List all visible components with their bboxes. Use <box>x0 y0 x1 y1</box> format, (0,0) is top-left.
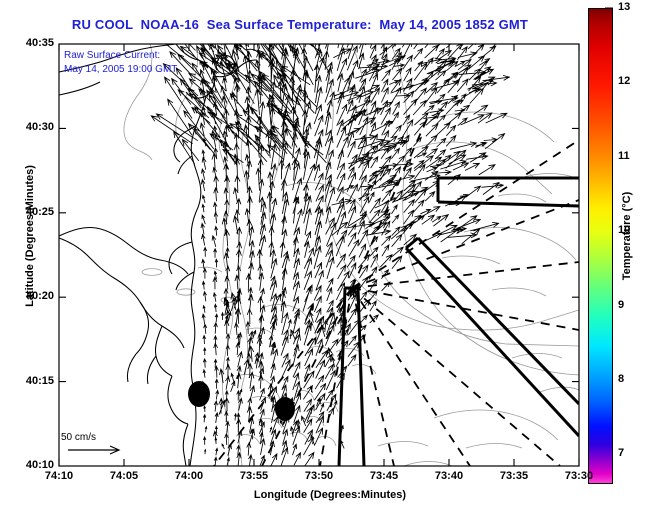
sst-map-figure: RU COOL NOAA-16 Sea Surface Temperature:… <box>0 0 651 515</box>
x-tick-label: 73:50 <box>295 470 343 482</box>
x-axis-label: Longitude (Degrees:Minutes) <box>170 489 490 501</box>
colorbar-tick-label: 9 <box>618 299 642 311</box>
map-plot-area <box>0 0 651 515</box>
colorbar <box>588 8 613 484</box>
x-tick-label: 73:40 <box>425 470 473 482</box>
x-tick-label: 73:35 <box>490 470 538 482</box>
radar-station-marker-1 <box>188 381 210 407</box>
colorbar-gradient <box>589 9 612 483</box>
x-tick-label: 73:30 <box>555 470 603 482</box>
current-annotation-line2: May 14, 2005 19:00 GMT <box>64 64 177 75</box>
x-tick-label: 74:10 <box>35 470 83 482</box>
radar-station-marker-2 <box>275 397 295 421</box>
colorbar-tick-label: 11 <box>618 150 642 162</box>
y-tick-label: 40:15 <box>8 375 54 387</box>
scale-legend-label: 50 cm/s <box>61 432 96 443</box>
y-tick-label: 40:20 <box>8 290 54 302</box>
x-tick-label: 73:45 <box>360 470 408 482</box>
y-tick-label: 40:10 <box>8 459 54 471</box>
colorbar-tick-label: 10 <box>618 224 642 236</box>
y-tick-label: 40:25 <box>8 206 54 218</box>
x-tick-label: 74:00 <box>165 470 213 482</box>
x-tick-label: 73:55 <box>230 470 278 482</box>
x-tick-label: 74:05 <box>100 470 148 482</box>
colorbar-tick-label: 13 <box>618 1 642 13</box>
y-tick-label: 40:30 <box>8 121 54 133</box>
colorbar-tick-label: 12 <box>618 75 642 87</box>
colorbar-tick-label: 7 <box>618 447 642 459</box>
colorbar-tick-label: 8 <box>618 373 642 385</box>
current-annotation-line1: Raw Surface Current: <box>64 50 160 61</box>
y-tick-label: 40:35 <box>8 37 54 49</box>
